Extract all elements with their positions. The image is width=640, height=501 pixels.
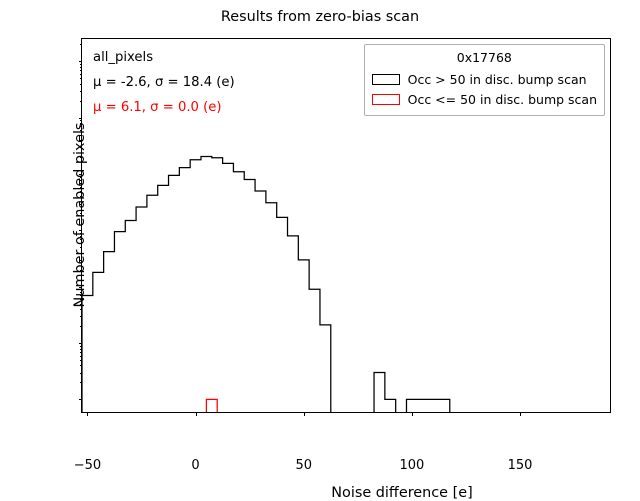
x-tick-mark: [412, 412, 413, 416]
stats-annotations: all_pixelsμ = -2.6, σ = 18.4 (e)μ = 6.1,…: [93, 45, 393, 120]
x-axis-label: Noise difference [e]: [82, 485, 640, 501]
y-tick-minor: [80, 126, 82, 127]
y-tick-minor: [80, 260, 82, 261]
x-tick-label: 50: [295, 458, 312, 473]
legend-entry-label: Occ > 50 in disc. bump scan: [408, 72, 587, 87]
y-tick-minor: [80, 67, 82, 68]
y-tick-minor: [80, 233, 82, 234]
y-tick-minor: [80, 356, 82, 357]
legend-entries: Occ > 50 in disc. bump scanOcc <= 50 in …: [372, 69, 597, 109]
y-tick-minor: [80, 373, 82, 374]
chart-legend: 0x17768 Occ > 50 in disc. bump scanOcc <…: [364, 44, 605, 116]
y-tick-minor: [80, 191, 82, 192]
y-tick-mark: [79, 230, 83, 231]
x-tick-label: −50: [74, 458, 101, 473]
y-tick-mark: [79, 287, 83, 288]
y-tick-minor: [80, 183, 82, 184]
legend-swatch-icon: [372, 74, 400, 85]
x-tick-label: 150: [508, 458, 533, 473]
y-tick-minor: [80, 157, 82, 158]
y-tick-mark: [79, 174, 83, 175]
legend-entry-label: Occ <= 50 in disc. bump scan: [408, 92, 597, 107]
y-tick-minor: [80, 270, 82, 271]
y-tick-minor: [80, 204, 82, 205]
y-tick-minor: [80, 292, 82, 293]
stats-annotation-line: μ = 6.1, σ = 0.0 (e): [93, 95, 393, 120]
y-tick-minor: [80, 130, 82, 131]
x-tick-mark: [304, 412, 305, 416]
y-tick-minor: [80, 247, 82, 248]
y-tick-minor: [80, 70, 82, 71]
figure-canvas: Results from zero-bias scan Number of en…: [0, 0, 640, 480]
y-tick-minor: [80, 74, 82, 75]
y-tick-minor: [80, 78, 82, 79]
y-tick-minor: [80, 365, 82, 366]
y-tick-minor: [80, 123, 82, 124]
histogram-step-black: [374, 373, 396, 413]
y-tick-minor: [80, 177, 82, 178]
y-tick-minor: [80, 64, 82, 65]
x-tick-mark: [87, 412, 88, 416]
y-tick-minor: [80, 120, 82, 121]
x-tick-mark: [196, 412, 197, 416]
y-tick-minor: [80, 304, 82, 305]
y-tick-mark: [79, 343, 83, 344]
y-tick-minor: [80, 326, 82, 327]
y-tick-minor: [80, 289, 82, 290]
y-tick-minor: [80, 299, 82, 300]
histogram-step-black: [406, 399, 449, 412]
y-tick-minor: [80, 91, 82, 92]
y-tick-minor: [80, 44, 82, 45]
y-tick-minor: [80, 243, 82, 244]
y-tick-minor: [80, 187, 82, 188]
y-tick-minor: [80, 360, 82, 361]
y-tick-mark: [79, 399, 83, 400]
x-tick-label: 100: [399, 458, 424, 473]
y-tick-minor: [80, 239, 82, 240]
y-tick-minor: [80, 180, 82, 181]
page-title: Results from zero-bias scan: [0, 9, 640, 25]
y-tick-minor: [80, 135, 82, 136]
y-tick-mark: [79, 118, 83, 119]
y-tick-minor: [80, 382, 82, 383]
y-tick-minor: [80, 196, 82, 197]
stats-annotation-line: all_pixels: [93, 45, 393, 70]
y-tick-minor: [80, 316, 82, 317]
y-tick-minor: [80, 295, 82, 296]
y-tick-minor: [80, 84, 82, 85]
x-tick-mark: [520, 412, 521, 416]
legend-title: 0x17768: [372, 50, 597, 69]
legend-entry: Occ <= 50 in disc. bump scan: [372, 89, 597, 109]
y-tick-minor: [80, 346, 82, 347]
y-tick-minor: [80, 349, 82, 350]
legend-swatch-icon: [372, 94, 400, 105]
y-tick-minor: [80, 213, 82, 214]
y-tick-minor: [80, 309, 82, 310]
y-axis-label: Number of enabled pixels: [72, 45, 88, 385]
stats-annotation-line: μ = -2.6, σ = 18.4 (e): [93, 70, 393, 95]
x-tick-label: 0: [191, 458, 199, 473]
y-tick-minor: [80, 236, 82, 237]
histogram-step-red: [206, 399, 217, 412]
histogram-step-black: [82, 157, 331, 412]
y-tick-minor: [80, 140, 82, 141]
y-tick-minor: [80, 253, 82, 254]
y-tick-minor: [80, 101, 82, 102]
y-tick-minor: [80, 147, 82, 148]
y-tick-mark: [79, 61, 83, 62]
plot-axes: Number of enabled pixels Noise differenc…: [81, 38, 611, 413]
y-tick-minor: [80, 352, 82, 353]
legend-entry: Occ > 50 in disc. bump scan: [372, 69, 597, 89]
